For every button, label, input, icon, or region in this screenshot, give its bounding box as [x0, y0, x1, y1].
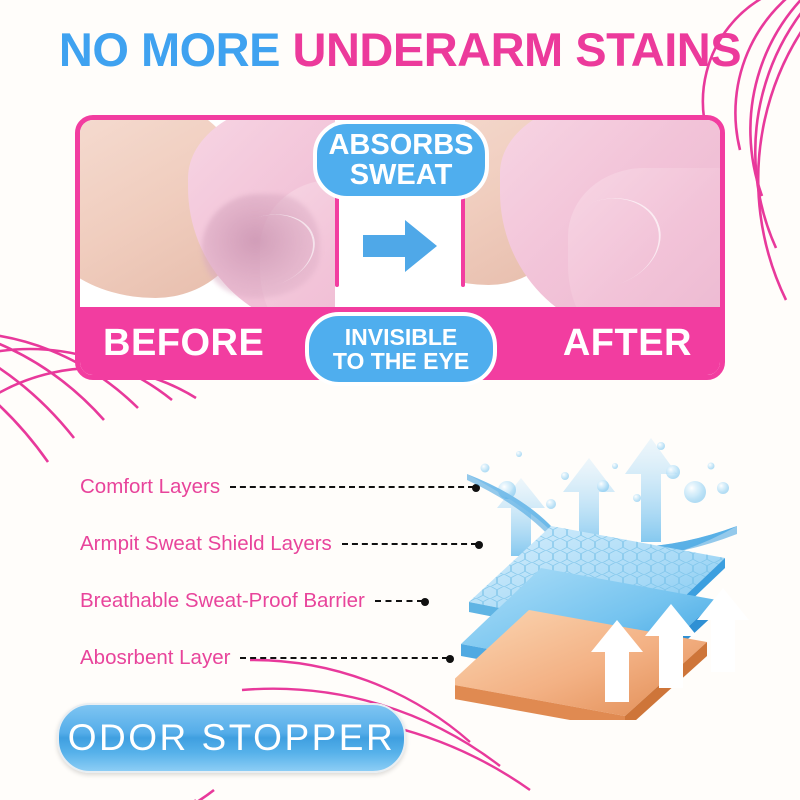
callout-abosrbent-layer: Abosrbent Layer: [80, 645, 448, 671]
odor-stopper-button[interactable]: ODOR STOPPER: [57, 703, 406, 773]
headline-part-pink: UNDERARM STAINS: [293, 23, 742, 76]
badge-absorbs-line1: ABSORBS: [328, 130, 473, 160]
layer-diagram: [455, 430, 755, 720]
badge-invisible-to-the-eye: INVISIBLE TO THE EYE: [305, 312, 497, 386]
leader-line: [240, 657, 448, 659]
leader-line: [230, 486, 474, 488]
callout-label: Abosrbent Layer: [80, 646, 230, 670]
callout-breathable-sweat-proof-barrier: Breathable Sweat-Proof Barrier: [80, 588, 423, 614]
before-label: BEFORE: [103, 322, 264, 365]
badge-invisible-line2: TO THE EYE: [333, 349, 469, 373]
leader-line: [375, 600, 423, 602]
badge-absorbs-sweat: ABSORBS SWEAT: [313, 120, 489, 200]
callout-armpit-sweat-shield-layers: Armpit Sweat Shield Layers: [80, 531, 477, 557]
callout-label: Breathable Sweat-Proof Barrier: [80, 589, 365, 613]
callout-comfort-layers: Comfort Layers: [80, 474, 474, 500]
odor-stopper-label: ODOR STOPPER: [68, 717, 395, 759]
headline-part-blue: NO MORE: [59, 23, 280, 76]
badge-absorbs-line2: SWEAT: [350, 160, 453, 190]
callout-label: Comfort Layers: [80, 475, 220, 499]
after-label: AFTER: [563, 322, 692, 365]
arrow-right-icon: [361, 217, 439, 280]
callout-label: Armpit Sweat Shield Layers: [80, 532, 332, 556]
poster-root: NO MORE UNDERARM STAINS: [0, 0, 800, 800]
badge-invisible-line1: INVISIBLE: [345, 325, 457, 349]
page-title: NO MORE UNDERARM STAINS: [0, 22, 800, 77]
